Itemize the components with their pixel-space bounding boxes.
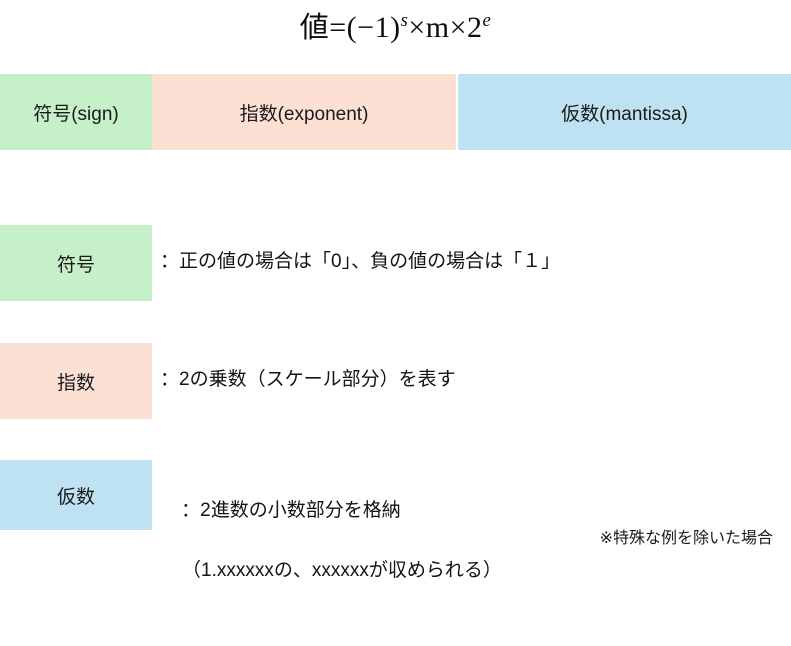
chip-exponent: 指数 [0, 343, 152, 419]
field-segment-mantissa: 仮数(mantissa) [458, 74, 791, 150]
formula-base-open: (−1) [347, 11, 401, 44]
description-exponent: ：2の乗数（スケール部分）を表す [160, 365, 456, 395]
field-segment-sign: 符号(sign) [0, 74, 152, 150]
field-segment-mantissa-label: 仮数(mantissa) [561, 99, 688, 126]
chip-sign-label: 符号 [57, 250, 95, 277]
value-formula: 値=(−1)s×m×2e [0, 6, 791, 50]
chip-sign: 符号 [0, 225, 152, 301]
description-row-mantissa: 仮数 ：2進数の小数部分を格納 （1.xxxxxxの、xxxxxxが収められる） [0, 460, 791, 530]
chip-mantissa-label: 仮数 [57, 482, 95, 509]
footnote: ※特殊な例を除いた場合 [600, 524, 773, 548]
bit-field-bar: 符号(sign) 指数(exponent) 仮数(mantissa) [0, 74, 791, 150]
description-mantissa-line-2: （1.xxxxxxの、xxxxxxが収められる） [160, 556, 502, 586]
field-segment-exponent-label: 指数(exponent) [240, 99, 369, 126]
description-row-sign: 符号 ：正の値の場合は「0」、負の値の場合は「１」 [0, 225, 791, 301]
field-segment-exponent: 指数(exponent) [152, 74, 456, 150]
description-row-exponent: 指数 ：2の乗数（スケール部分）を表す [0, 343, 791, 419]
formula-lhs: 値 [300, 12, 330, 44]
chip-exponent-label: 指数 [57, 368, 95, 395]
description-sign: ：正の値の場合は「0」、負の値の場合は「１」 [160, 247, 560, 277]
field-segment-sign-label: 符号(sign) [33, 99, 119, 126]
formula-mantissa-symbol: m [426, 11, 450, 44]
formula-times-1: × [408, 11, 425, 44]
description-mantissa-line-1: ：2進数の小数部分を格納 [181, 500, 401, 521]
description-mantissa: ：2進数の小数部分を格納 （1.xxxxxxの、xxxxxxが収められる） [160, 466, 502, 646]
chip-mantissa: 仮数 [0, 460, 152, 530]
formula-times-2: × [450, 11, 467, 44]
formula-base-2: 2 [467, 11, 483, 44]
formula-equals: = [329, 11, 346, 44]
formula-exponent-symbol: e [483, 10, 492, 31]
